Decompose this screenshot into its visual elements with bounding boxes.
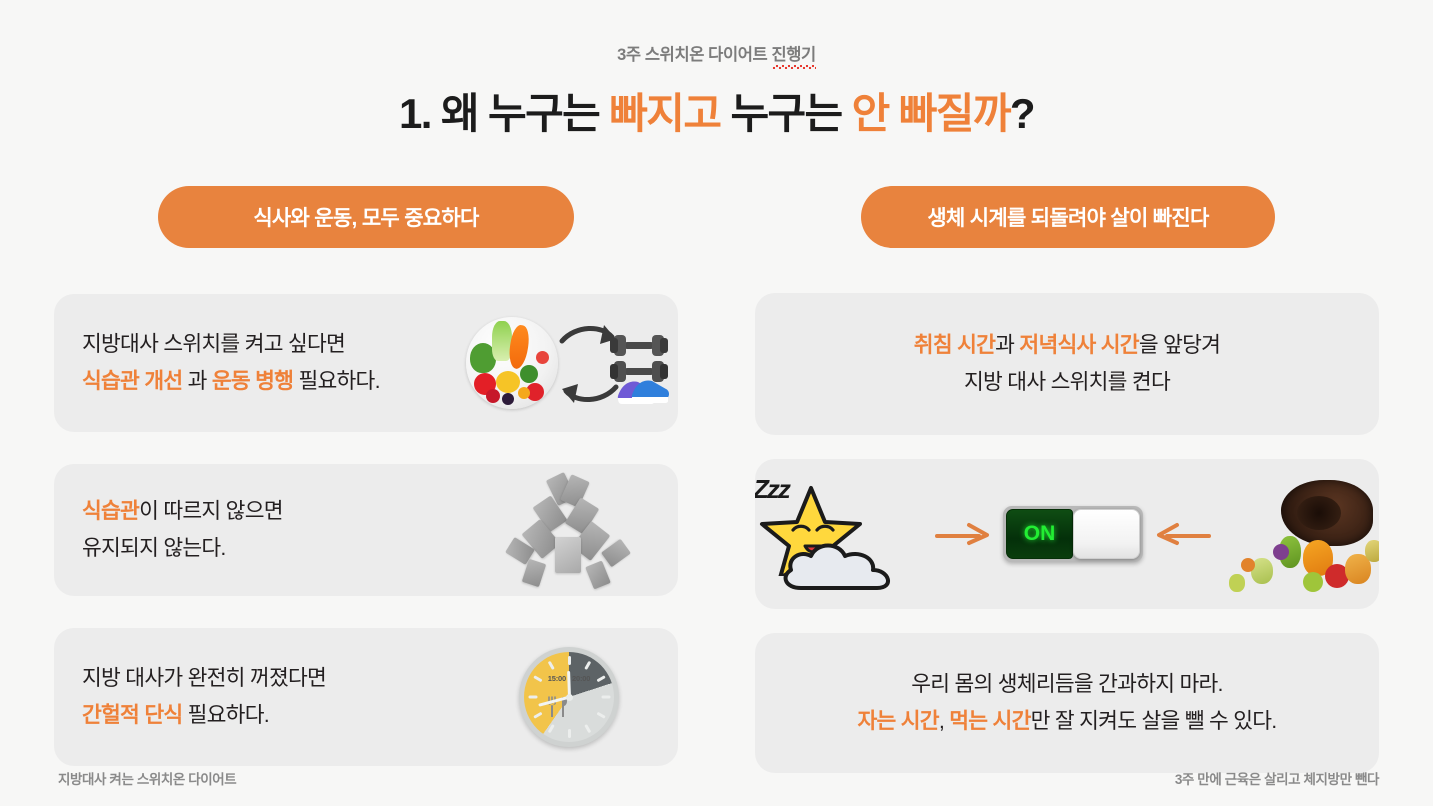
slide-root: 3주 스위치온 다이어트 진행기 1. 왜 누구는 빠지고 누구는 안 빠질까?…	[0, 0, 1433, 806]
eyebrow-misspelled-word: 진행기	[772, 41, 816, 65]
title-highlight-1: 빠지고	[609, 90, 720, 137]
right-card-3-mid: ,	[939, 709, 949, 733]
right-card-1: 취침 시간과 저녁식사 시간을 앞당겨 지방 대사 스위치를 켠다	[755, 293, 1379, 435]
collapsing-house-of-cards-icon	[460, 464, 678, 596]
right-card-1-tail: 을 앞당겨	[1139, 333, 1220, 357]
left-card-3-line-1: 지방 대사가 완전히 꺼졌다면	[82, 660, 460, 697]
right-card-1-line-2: 지방 대사 스위치를 켠다	[755, 364, 1379, 401]
intermittent-fasting-clock-icon: 15:00 - 20:00	[460, 628, 678, 766]
left-card-2-hl-1: 식습관	[82, 499, 139, 523]
right-card-3-hl-2: 먹는 시간	[949, 709, 1030, 733]
left-card-1-hl-2: 운동 병행	[212, 369, 293, 393]
right-card-1-mid: 과	[995, 333, 1019, 357]
left-card-1-tail: 필요하다.	[293, 369, 380, 393]
left-card-3-hl-1: 간헐적 단식	[82, 703, 182, 727]
right-card-1-hl-2: 저녁식사 시간	[1019, 333, 1138, 357]
sneakers-icon	[616, 376, 672, 406]
footer-left-label: 지방대사 켜는 스위치온 다이어트	[58, 768, 236, 788]
right-card-1-hl-1: 취침 시간	[914, 333, 995, 357]
title-part-3: ?	[1010, 90, 1034, 137]
toggle-on-label: ON	[1006, 509, 1073, 559]
left-card-2: 식습관이 따르지 않으면 유지되지 않는다.	[54, 464, 678, 596]
left-card-2-line-1: 식습관이 따르지 않으면	[82, 493, 460, 530]
right-card-3-tail: 만 잘 지켜도 살을 뺄 수 있다.	[1031, 709, 1277, 733]
right-column-heading-pill: 생체 시계를 되돌려야 살이 빠진다	[861, 186, 1275, 248]
left-column-heading-pill: 식사와 운동, 모두 중요하다	[158, 186, 574, 248]
left-card-1: 지방대사 스위치를 켜고 싶다면 식습관 개선 과 운동 병행 필요하다.	[54, 294, 678, 432]
left-card-2-tail: 이 따르지 않으면	[139, 499, 283, 523]
slide-eyebrow: 3주 스위치온 다이어트 진행기	[0, 41, 1433, 65]
veggies-cycle-dumbbells-shoes-icon	[460, 294, 678, 432]
eyebrow-prefix: 3주 스위치온 다이어트	[617, 46, 771, 64]
cloud-shape-icon	[777, 532, 909, 594]
footer-right-label: 3주 만에 근육은 살리고 체지방만 뺀다	[1175, 768, 1379, 788]
cornucopia-fruits-icon	[1221, 474, 1379, 594]
title-highlight-2: 안 빠질까	[852, 90, 1010, 137]
arrow-right-icon	[935, 521, 993, 547]
right-card-3-text: 우리 몸의 생체리듬을 간과하지 마라. 자는 시간, 먹는 시간만 잘 지켜도…	[755, 666, 1379, 740]
left-card-1-hl-1: 식습관 개선	[82, 369, 182, 393]
title-part-1: 왜 누구는	[441, 90, 609, 137]
left-card-3-tail: 필요하다.	[182, 703, 269, 727]
right-card-2: Zzz ON	[755, 459, 1379, 609]
right-card-3-line-2: 자는 시간, 먹는 시간만 잘 지켜도 살을 뺄 수 있다.	[755, 703, 1379, 740]
page-title: 1. 왜 누구는 빠지고 누구는 안 빠질까?	[0, 80, 1433, 141]
left-column: 식사와 운동, 모두 중요하다 지방대사 스위치를 켜고 싶다면 식습관 개선 …	[54, 186, 678, 766]
on-toggle-switch[interactable]: ON	[1003, 506, 1143, 562]
left-card-1-line-2: 식습관 개선 과 운동 병행 필요하다.	[82, 363, 460, 400]
vegetable-plate-icon	[466, 317, 558, 409]
left-card-2-text: 식습관이 따르지 않으면 유지되지 않는다.	[54, 493, 460, 567]
left-card-3-line-2: 간헐적 단식 필요하다.	[82, 697, 460, 734]
title-part-2: 누구는	[720, 90, 851, 137]
right-card-1-text: 취침 시간과 저녁식사 시간을 앞당겨 지방 대사 스위치를 켠다	[755, 327, 1379, 401]
right-card-3: 우리 몸의 생체리듬을 간과하지 마라. 자는 시간, 먹는 시간만 잘 지켜도…	[755, 633, 1379, 773]
sleeping-star-icon: Zzz	[755, 470, 925, 598]
left-card-1-text: 지방대사 스위치를 켜고 싶다면 식습관 개선 과 운동 병행 필요하다.	[54, 326, 460, 400]
right-card-3-line-1: 우리 몸의 생체리듬을 간과하지 마라.	[755, 666, 1379, 703]
left-card-2-line-2: 유지되지 않는다.	[82, 530, 460, 567]
title-number: 1.	[399, 90, 441, 137]
left-card-3-text: 지방 대사가 완전히 꺼졌다면 간헐적 단식 필요하다.	[54, 660, 460, 734]
right-card-3-hl-1: 자는 시간	[857, 709, 938, 733]
right-card-1-line-1: 취침 시간과 저녁식사 시간을 앞당겨	[755, 327, 1379, 364]
toggle-knob[interactable]	[1073, 509, 1140, 559]
left-card-1-line-1: 지방대사 스위치를 켜고 싶다면	[82, 326, 460, 363]
arrow-left-icon	[1153, 521, 1211, 547]
left-card-1-mid: 과	[182, 369, 211, 393]
left-card-3: 지방 대사가 완전히 꺼졌다면 간헐적 단식 필요하다.	[54, 628, 678, 766]
right-column: 생체 시계를 되돌려야 살이 빠진다 취침 시간과 저녁식사 시간을 앞당겨 지…	[755, 186, 1379, 773]
